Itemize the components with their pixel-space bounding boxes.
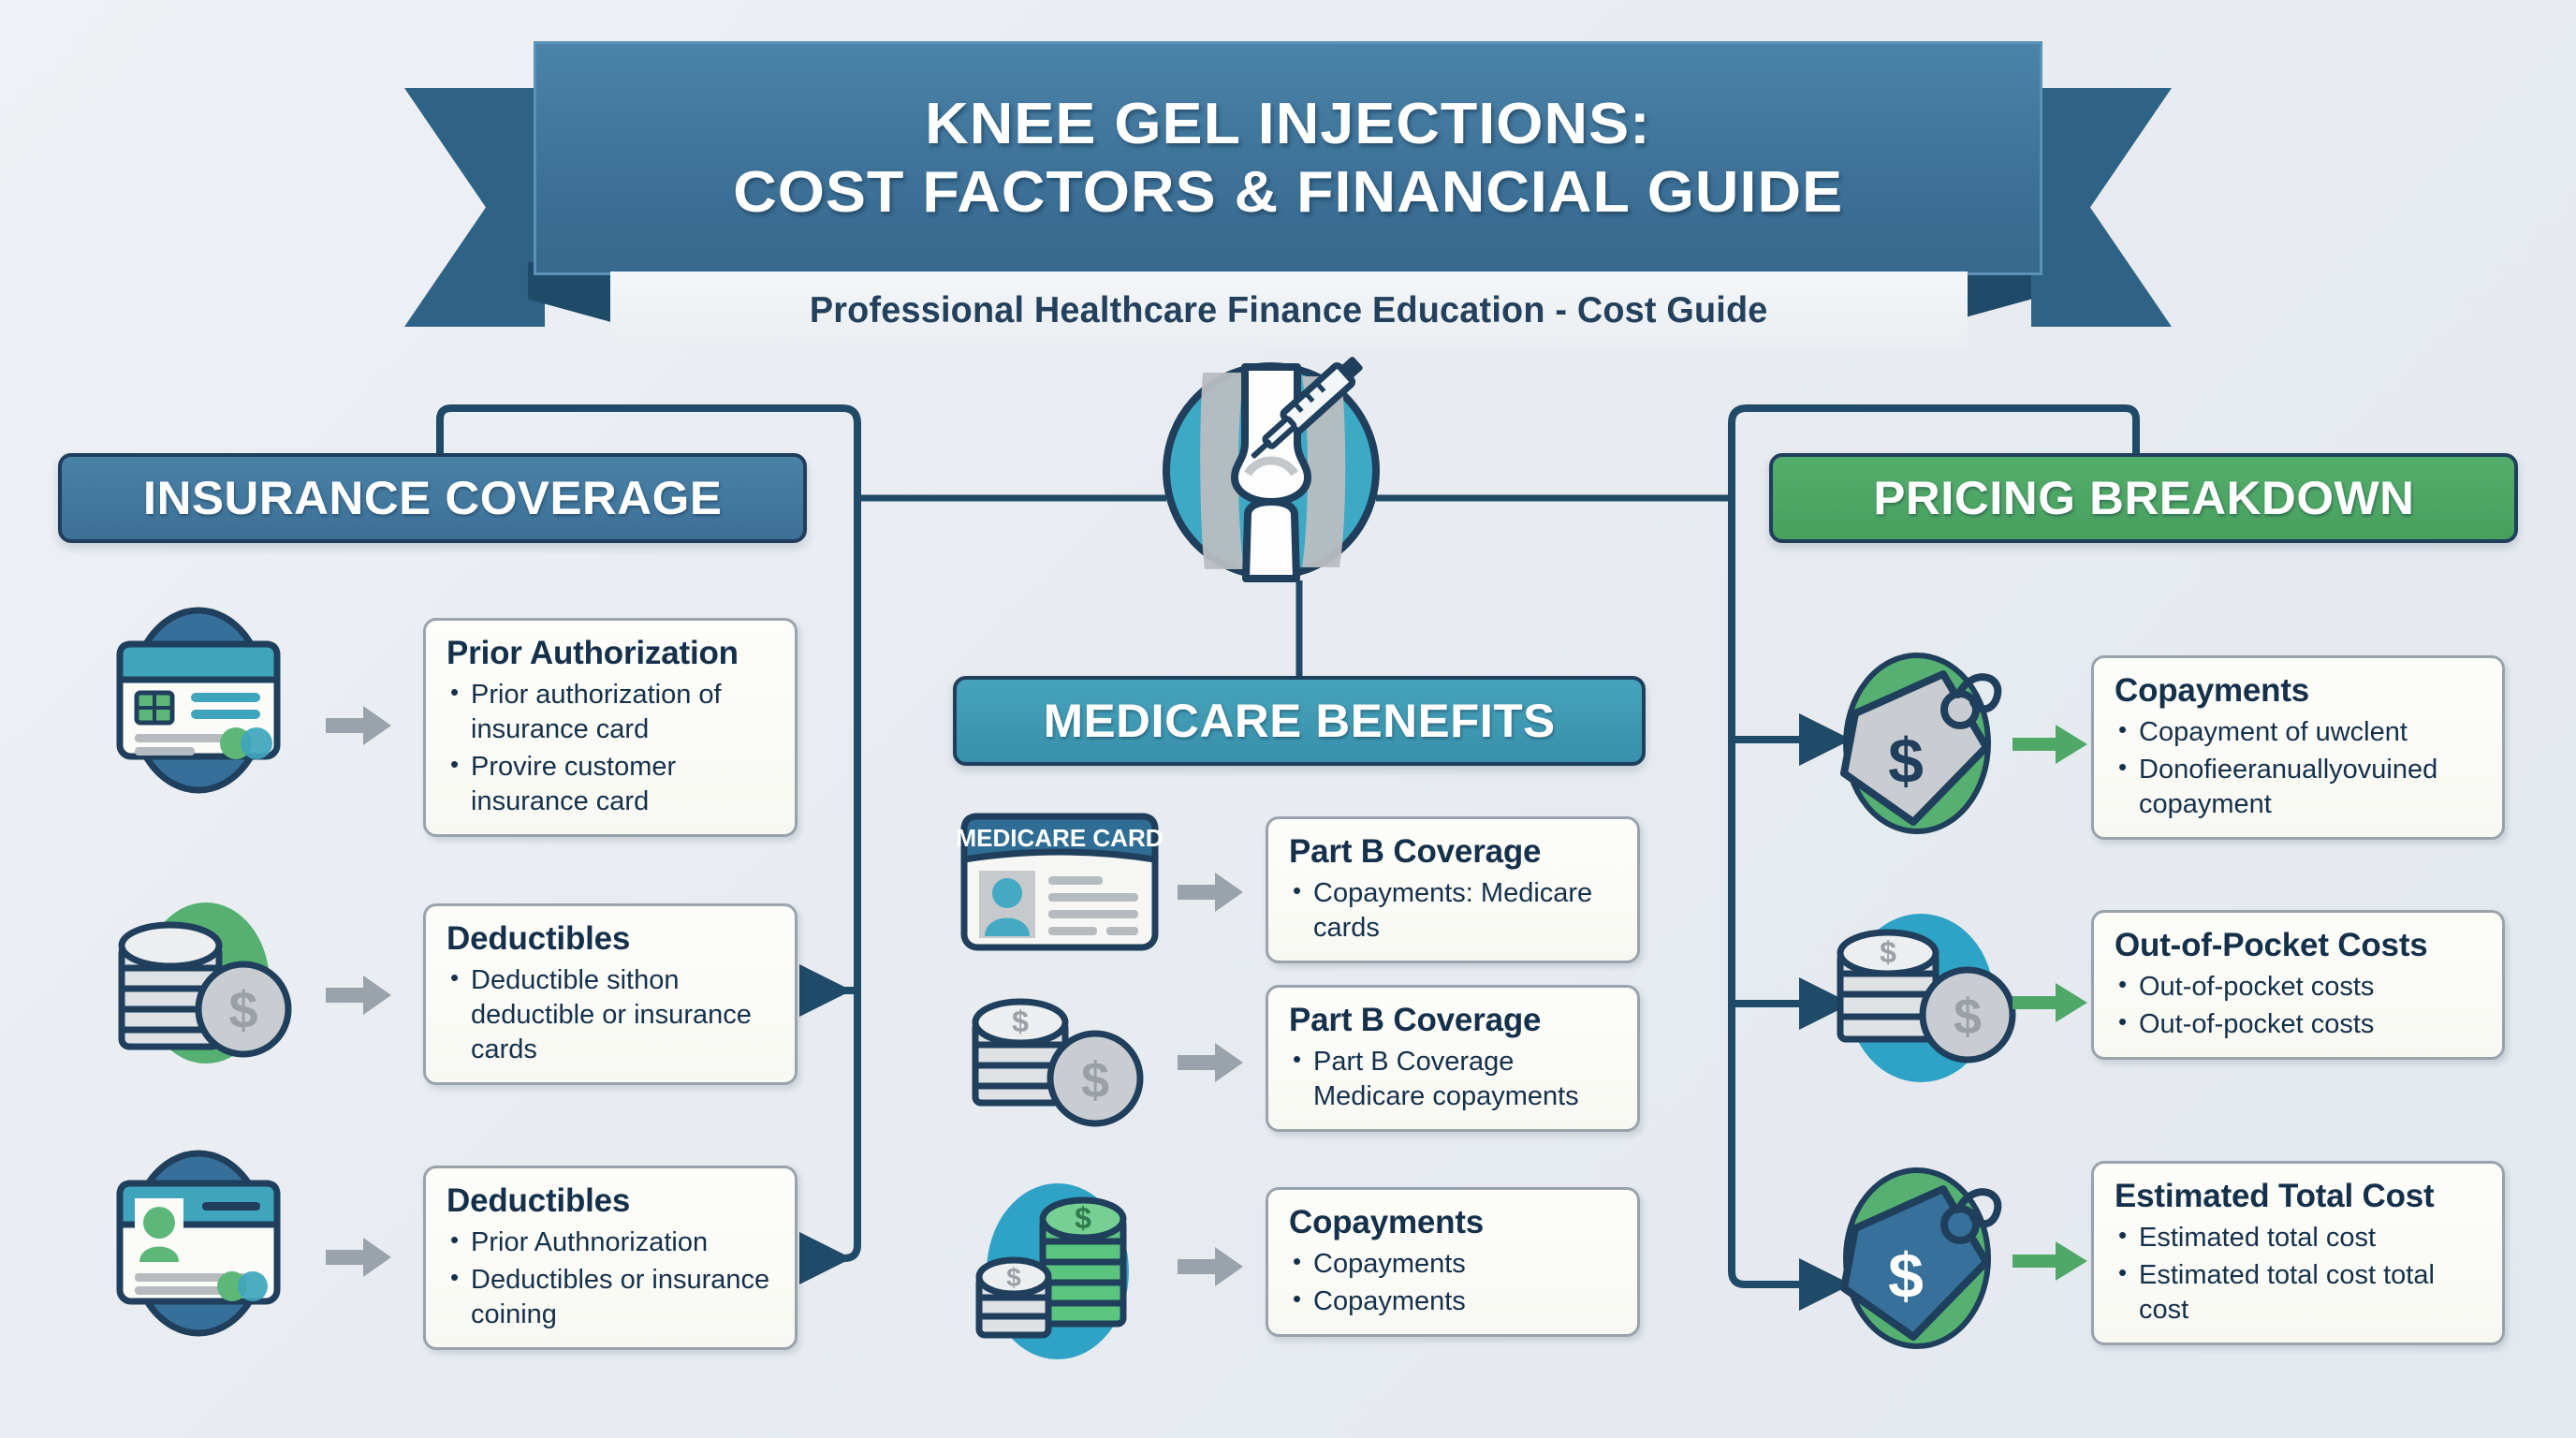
- info-card[interactable]: Deductibles Prior Authnorization Deducti…: [423, 1166, 798, 1350]
- card-title: Deductibles: [446, 1183, 776, 1220]
- info-card[interactable]: Part B Coverage Copayments: Medicare car…: [1266, 816, 1640, 963]
- card-title: Part B Coverage: [1289, 834, 1618, 871]
- card-bullet: Out-of-pocket costs: [2115, 970, 2483, 1005]
- card-bullets: Prior authorization of insurance card Pr…: [446, 678, 776, 819]
- card-bullet: Provire customer insurance card: [446, 750, 776, 819]
- insurance-card-icon: [86, 607, 311, 794]
- card-bullet: Copayments: Medicare cards: [1289, 876, 1618, 946]
- arrow-icon: [2012, 981, 2087, 1024]
- knee-joint-syringe-icon: [1154, 354, 1388, 588]
- card-bullets: Copayments: Medicare cards: [1289, 876, 1618, 946]
- card-bullet: Prior Authnorization: [446, 1225, 776, 1260]
- card-bullets: Prior Authnorization Deductibles or insu…: [446, 1225, 776, 1332]
- svg-text:$: $: [1081, 1052, 1109, 1108]
- arrow-icon: [326, 1236, 391, 1279]
- arrow-icon: [326, 704, 391, 747]
- section-header-insurance-coverage[interactable]: INSURANCE COVERAGE: [58, 453, 807, 543]
- card-bullet: Prior authorization of insurance card: [446, 678, 776, 747]
- card-title: Estimated Total Cost: [2115, 1179, 2483, 1215]
- price-tag-green-icon: $: [1812, 642, 2027, 839]
- arrow-icon: [1178, 1245, 1243, 1288]
- price-tag-blue-icon: $: [1812, 1157, 2027, 1354]
- card-title: Copayments: [1289, 1205, 1618, 1241]
- arrow-icon: [2012, 1240, 2087, 1283]
- section-header-label: INSURANCE COVERAGE: [143, 471, 722, 525]
- info-card[interactable]: Copayments Copayments Copayments: [1266, 1187, 1640, 1337]
- card-bullets: Part B Coverage Medicare copayments: [1289, 1045, 1618, 1114]
- svg-text:$: $: [1888, 726, 1924, 797]
- card-bullet: Part B Coverage Medicare copayments: [1289, 1045, 1618, 1114]
- info-card[interactable]: Copayments Copayment of uwclent Donofiee…: [2091, 655, 2505, 840]
- svg-text:$: $: [1888, 1240, 1924, 1312]
- medicare-card-label: MEDICARE CARD: [957, 824, 1164, 852]
- card-bullet: Out-of-pocket costs: [2115, 1007, 2483, 1042]
- card-bullets: Copayment of uwclent Donofieeranuallyovu…: [2115, 715, 2483, 822]
- section-header-pricing-breakdown[interactable]: PRICING BREAKDOWN: [1769, 453, 2518, 543]
- card-bullet: Donofieeranuallyovuined copayment: [2115, 753, 2483, 822]
- info-card[interactable]: Prior Authorization Prior authorization …: [423, 618, 798, 837]
- svg-text:$: $: [228, 980, 257, 1039]
- arrow-icon: [326, 974, 391, 1017]
- info-card[interactable]: Estimated Total Cost Estimated total cos…: [2091, 1161, 2505, 1345]
- info-card[interactable]: Part B Coverage Part B Coverage Medicare…: [1266, 985, 1640, 1132]
- info-card[interactable]: Out-of-Pocket Costs Out-of-pocket costs …: [2091, 910, 2505, 1060]
- card-title: Copayments: [2115, 673, 2483, 710]
- coin-stack-blue-icon: $ $: [1812, 904, 2027, 1092]
- card-bullets: Deductible sithon deductible or insuranc…: [446, 963, 776, 1067]
- info-card[interactable]: Deductibles Deductible sithon deductible…: [423, 903, 798, 1085]
- card-bullet: Copayment of uwclent: [2115, 715, 2483, 750]
- arrow-icon: [1178, 871, 1243, 914]
- section-header-label: PRICING BREAKDOWN: [1873, 471, 2414, 525]
- card-title: Deductibles: [446, 921, 776, 958]
- card-bullets: Out-of-pocket costs Out-of-pocket costs: [2115, 970, 2483, 1042]
- green-coins-icon: $ $: [957, 1178, 1163, 1365]
- card-title: Out-of-Pocket Costs: [2115, 928, 2483, 964]
- card-bullets: Estimated total cost Estimated total cos…: [2115, 1221, 2483, 1328]
- svg-text:$: $: [1075, 1201, 1091, 1235]
- medicare-card-icon: MEDICARE CARD: [955, 807, 1164, 957]
- section-header-label: MEDICARE BENEFITS: [1043, 694, 1555, 748]
- card-title: Prior Authorization: [446, 636, 776, 672]
- card-bullet: Copayments: [1289, 1284, 1618, 1319]
- card-title: Part B Coverage: [1289, 1003, 1618, 1039]
- svg-text:$: $: [1880, 935, 1896, 969]
- card-bullet: Estimated total cost: [2115, 1221, 2483, 1255]
- section-header-medicare-benefits[interactable]: MEDICARE BENEFITS: [953, 676, 1646, 766]
- svg-text:$: $: [1954, 989, 1982, 1045]
- card-bullet: Deductible sithon deductible or insuranc…: [446, 963, 776, 1067]
- silver-coins-icon: $ $: [957, 976, 1163, 1144]
- card-bullets: Copayments Copayments: [1289, 1247, 1618, 1319]
- member-id-card-icon: [86, 1150, 311, 1337]
- arrow-icon: [1178, 1041, 1243, 1084]
- arrow-icon: [2012, 723, 2087, 766]
- coin-stack-icon: $: [86, 889, 311, 1077]
- card-bullet: Copayments: [1289, 1247, 1618, 1282]
- svg-text:$: $: [1006, 1263, 1021, 1292]
- card-bullet: Deductibles or insurance coining: [446, 1263, 776, 1332]
- card-bullet: Estimated total cost total cost: [2115, 1258, 2483, 1328]
- svg-text:$: $: [1012, 1005, 1029, 1038]
